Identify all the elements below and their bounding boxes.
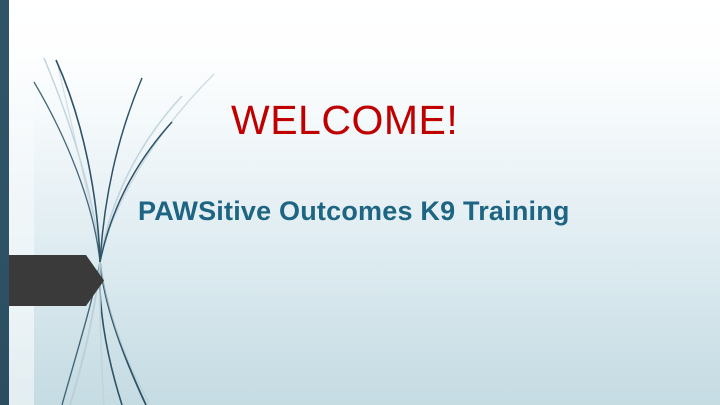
arrow-banner-shape [0,255,104,306]
page-title: WELCOME! [231,99,458,142]
page-subtitle: PAWSitive Outcomes K9 Training [138,196,570,227]
presentation-slide: WELCOME! PAWSitive Outcomes K9 Training [0,0,720,405]
vertical-accent-stripe [0,0,9,405]
left-soft-band [9,0,34,405]
